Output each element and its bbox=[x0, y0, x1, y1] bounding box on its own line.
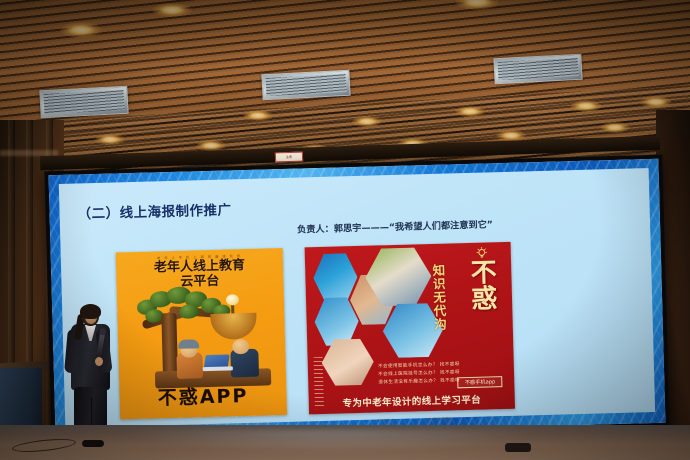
elder-left-hat-icon bbox=[178, 339, 199, 349]
presentation-room-photo: 注意 （二）线上海报制作推广 负责人：郭思宇———“我希望人们都注意到它” 老 … bbox=[0, 0, 690, 460]
presenter-hand bbox=[95, 357, 103, 366]
presenter-person bbox=[62, 305, 118, 445]
presenter-shoes bbox=[82, 440, 104, 447]
warning-sign: 注意 bbox=[275, 152, 303, 163]
caption-1: 时时不惑 bbox=[377, 418, 394, 424]
poster-right-footer: 专为中老年设计的线上学习平台 bbox=[309, 391, 515, 411]
poster-right-red[interactable]: 知识无代沟 不惑 不会使用智能手机怎么办？ 找不惑呀 不会线上医院挂号怎么办？ … bbox=[305, 242, 515, 415]
slide-content-area: （二）线上海报制作推广 负责人：郭思宇———“我希望人们都注意到它” 老 年 人… bbox=[59, 168, 655, 428]
lightbulb-icon bbox=[226, 294, 239, 305]
poster-left-heading-line2: 云平台 bbox=[116, 273, 283, 292]
floor-sheen bbox=[120, 430, 540, 454]
laptop-base-icon bbox=[203, 366, 233, 371]
tree-foliage-icon bbox=[116, 248, 283, 253]
poster-left-orange[interactable]: 老 年 人 手 机 上 网 的 最 佳 伙 伴 老年人线上教育 云平台 bbox=[116, 248, 287, 419]
tree-leaf-7 bbox=[179, 304, 199, 319]
slide-subtitle: 负责人：郭思宇———“我希望人们都注意到它” bbox=[297, 216, 493, 235]
display-screen[interactable]: （二）线上海报制作推广 负责人：郭思宇———“我希望人们都注意到它” 老 年 人… bbox=[44, 155, 669, 444]
caption-2: 让生活充满趣味 bbox=[424, 416, 453, 423]
hex-photo-1 bbox=[313, 252, 358, 303]
poster-left-footer: 不惑APP bbox=[119, 380, 287, 412]
floor-object-right bbox=[505, 443, 531, 452]
tree-trunk-icon bbox=[161, 313, 178, 377]
poster-right-brand: 不惑 bbox=[465, 258, 496, 311]
poster-right-slogan: 知识无代沟 bbox=[431, 264, 446, 332]
poster-left-heading: 老年人线上教育 云平台 bbox=[116, 258, 284, 292]
slide-surface: （二）线上海报制作推广 负责人：郭思宇———“我希望人们都注意到它” 老 年 人… bbox=[49, 159, 666, 439]
presenter-hair bbox=[80, 304, 101, 319]
slide-title: （二）线上海报制作推广 bbox=[77, 198, 231, 222]
poster-right-app-chip: 不惑手机app bbox=[458, 376, 503, 388]
hex-photo-fill bbox=[313, 252, 358, 303]
lamp-shade-icon bbox=[210, 313, 257, 340]
